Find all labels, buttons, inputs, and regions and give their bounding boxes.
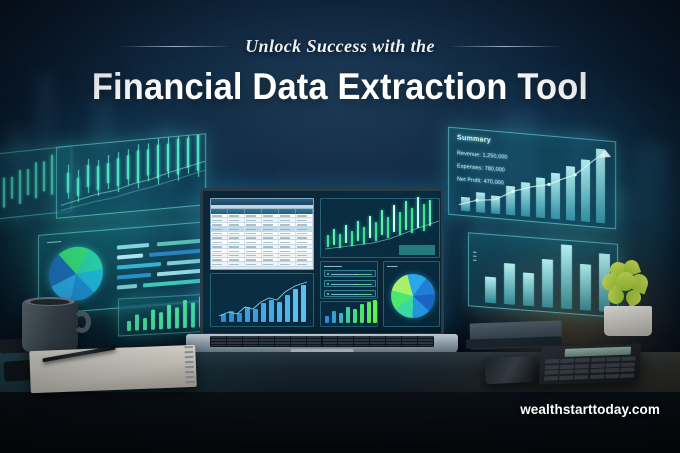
eyebrow-text: Unlock Success with the [245, 36, 435, 57]
laptop-screen[interactable]: ▬▬▬▬▬ ▬▬▬ [203, 191, 441, 333]
screen-kpi-card[interactable]: ▬▬▬▬▬ [320, 261, 378, 299]
headline-block: Unlock Success with the Financial Data E… [0, 36, 680, 108]
holo-bars-axis-label: ▬▬▬ [473, 250, 477, 262]
plant-pot [604, 306, 652, 336]
pie-card-caption: ▬▬▬ [387, 264, 398, 268]
holo-pie-caption: ▬▬▬▬ [47, 239, 61, 244]
calculator-keypad[interactable] [544, 356, 635, 380]
kpi-row [324, 270, 376, 277]
mug-handle [73, 311, 91, 333]
screen-candlestick-card[interactable] [320, 198, 440, 258]
coffee-mug [22, 300, 78, 352]
holo-panel-candlestick-left [56, 133, 206, 219]
mug-interior [30, 299, 70, 305]
holo-pie-chart [49, 245, 103, 303]
eyebrow-row: Unlock Success with the [0, 36, 680, 57]
screen-pie-card[interactable]: ▬▬▬ [383, 261, 440, 327]
smartphone-right [484, 356, 537, 385]
screen-pie-chart [391, 274, 435, 318]
calculator-display [565, 347, 632, 357]
page-title: Financial Data Extraction Tool [24, 66, 656, 108]
notepad-spiral-binding [183, 343, 195, 387]
notepad [29, 345, 196, 393]
screen-area-bars-card[interactable] [210, 273, 314, 327]
divider-rule-left [119, 46, 231, 47]
watermark: wealthstarttoday.com [520, 402, 660, 417]
poster-canvas: Unlock Success with the Financial Data E… [0, 0, 680, 453]
spreadsheet-window[interactable] [210, 198, 314, 270]
holo-panel-summary: Summary Revenue: 1,250,000 Expenses: 780… [448, 127, 616, 230]
kpi-row [324, 280, 376, 287]
screen-green-bars-card[interactable] [320, 301, 378, 327]
potted-plant [596, 258, 658, 320]
laptop-keyboard[interactable] [210, 336, 434, 347]
laptop-lid: ▬▬▬▬▬ ▬▬▬ [200, 188, 444, 336]
kpi-card-caption: ▬▬▬▬▬ [324, 264, 342, 268]
divider-rule-right [449, 46, 561, 47]
table-row[interactable] [211, 262, 313, 266]
trend-line-svg [57, 134, 206, 219]
calculator[interactable] [539, 343, 642, 385]
kpi-row [324, 290, 376, 297]
